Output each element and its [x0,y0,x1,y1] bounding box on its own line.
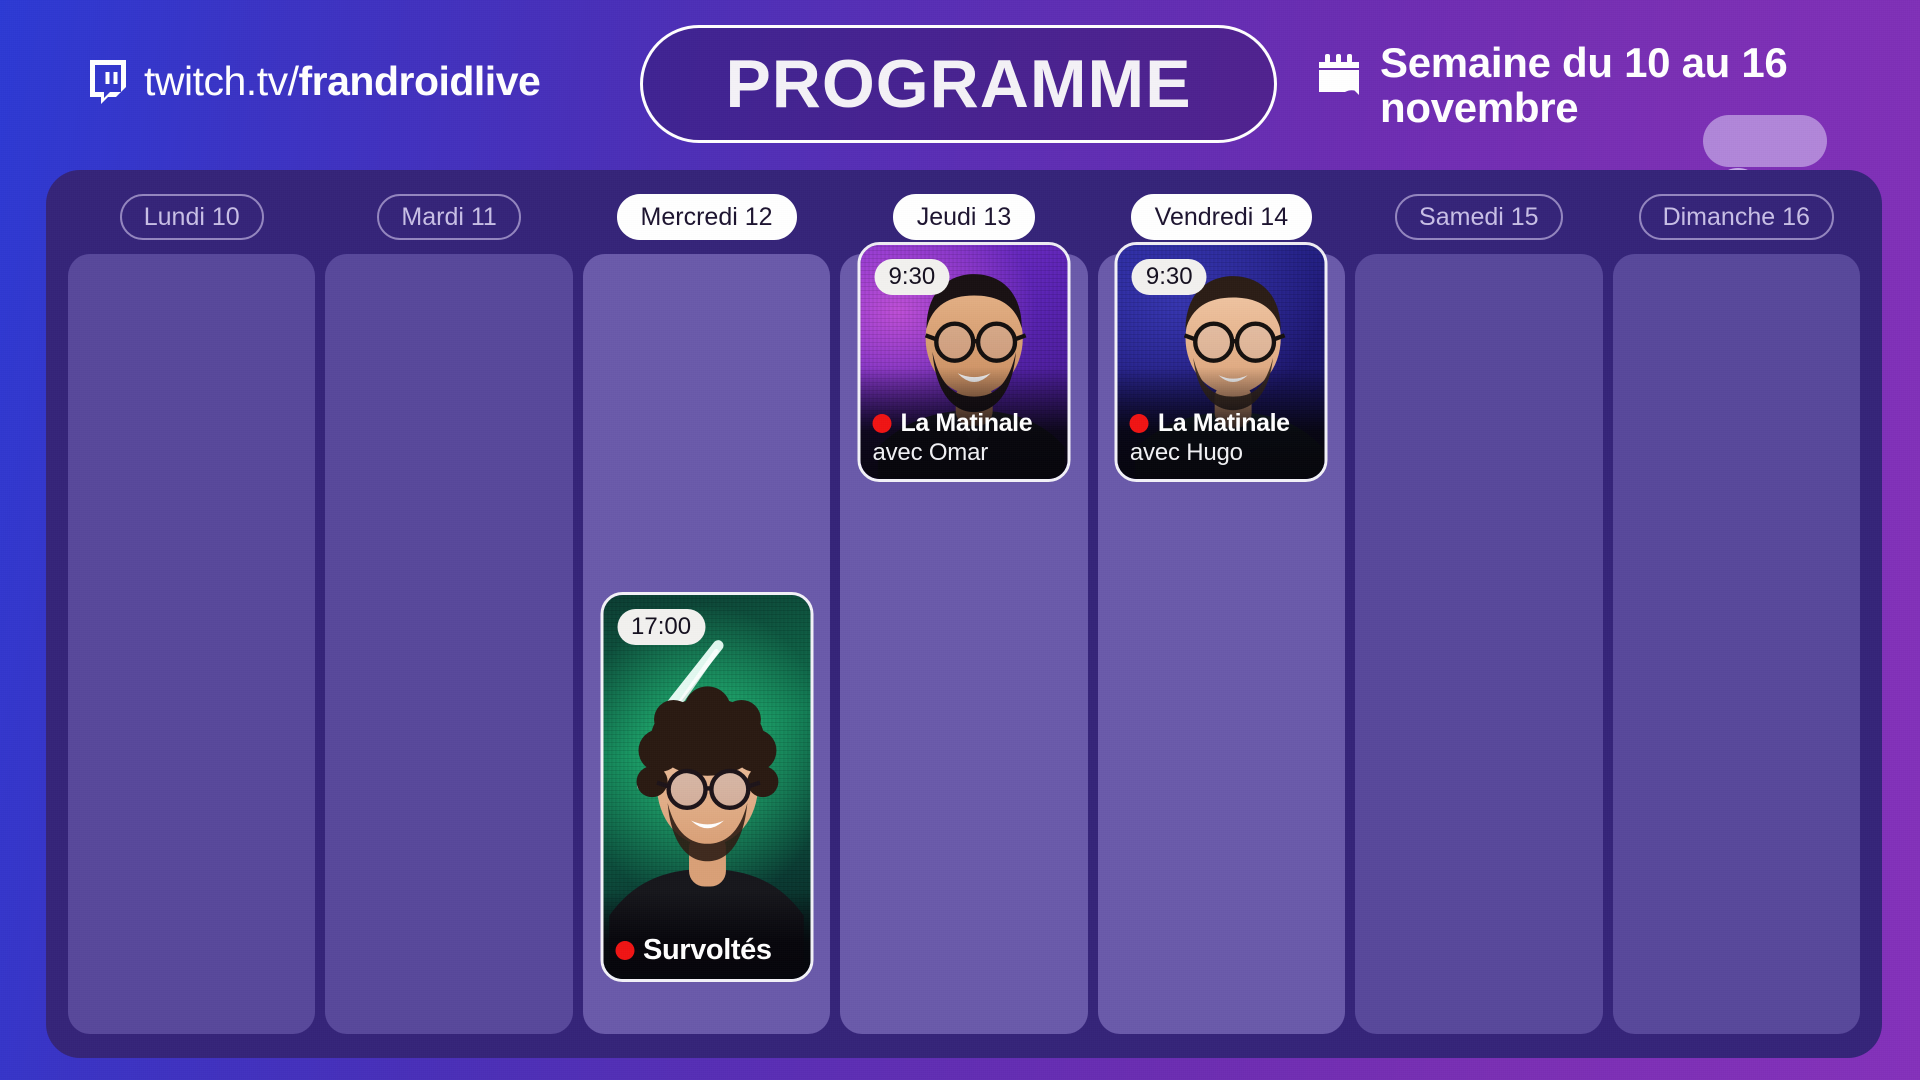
day-column-mardi: Mardi 11 [325,194,572,1034]
show-title-row: La Matinale [1130,409,1313,438]
week-grid: Lundi 10 Mardi 11 Mercredi 12 [46,170,1882,1058]
day-slot-samedi [1355,254,1602,1034]
day-slot-vendredi: 9:30 La Matinale avec Hugo [1098,254,1345,1034]
page-title: PROGRAMME [725,45,1191,123]
show-title: La Matinale [1158,409,1290,438]
show-subtitle: avec Omar [872,439,1055,467]
day-slot-jeudi: 9:30 La Matinale avec Omar [840,254,1087,1034]
day-label: Vendredi 14 [1155,203,1288,232]
show-title: La Matinale [900,409,1032,438]
show-card-matinale-omar[interactable]: 9:30 La Matinale avec Omar [857,242,1070,482]
day-slot-lundi [68,254,315,1034]
channel-brand[interactable]: twitch.tv/frandroidlive [86,58,540,105]
live-dot-icon [872,414,891,433]
day-label: Samedi 15 [1419,203,1539,232]
show-time-survoltes: 17:00 [617,609,705,645]
programme-title-pill: PROGRAMME [640,25,1277,143]
header: twitch.tv/frandroidlive PROGRAMME Semain… [0,0,1920,170]
show-title-row: Survoltés [615,934,798,967]
day-pill-lundi[interactable]: Lundi 10 [120,194,264,240]
show-footer-hugo: La Matinale avec Hugo [1118,367,1325,479]
day-column-dimanche: Dimanche 16 [1613,194,1860,1034]
channel-url-name: frandroidlive [298,58,540,104]
day-pill-mercredi[interactable]: Mercredi 12 [617,194,797,240]
day-column-lundi: Lundi 10 [68,194,315,1034]
show-time-omar: 9:30 [874,259,949,295]
day-slot-mercredi: 17:00 Survoltés [583,254,830,1034]
week-range: Semaine du 10 au 16 novembre [1316,40,1876,131]
day-label: Jeudi 13 [917,203,1012,232]
day-pill-samedi[interactable]: Samedi 15 [1395,194,1563,240]
day-pill-mardi[interactable]: Mardi 11 [377,194,520,240]
programme-poster: twitch.tv/frandroidlive PROGRAMME Semain… [0,0,1920,1080]
show-card-matinale-hugo[interactable]: 9:30 La Matinale avec Hugo [1115,242,1328,482]
day-pill-jeudi[interactable]: Jeudi 13 [893,194,1036,240]
channel-url: twitch.tv/frandroidlive [144,58,540,105]
show-footer-omar: La Matinale avec Omar [860,367,1067,479]
channel-url-prefix: twitch.tv/ [144,58,298,104]
live-dot-icon [1130,414,1149,433]
day-label: Mercredi 12 [641,203,773,232]
live-dot-icon [615,941,634,960]
day-column-samedi: Samedi 15 [1355,194,1602,1034]
day-label: Dimanche 16 [1663,203,1810,232]
day-slot-dimanche [1613,254,1860,1034]
week-label: Semaine du 10 au 16 novembre [1380,40,1876,131]
day-pill-vendredi[interactable]: Vendredi 14 [1131,194,1312,240]
show-time-hugo: 9:30 [1132,259,1207,295]
show-footer-survoltes: Survoltés [603,892,810,979]
week-panel: Lundi 10 Mardi 11 Mercredi 12 [46,170,1882,1058]
day-slot-mardi [325,254,572,1034]
calendar-icon [1316,54,1362,103]
day-label: Lundi 10 [144,203,240,232]
show-subtitle: avec Hugo [1130,439,1313,467]
show-title-row: La Matinale [872,409,1055,438]
day-pill-dimanche[interactable]: Dimanche 16 [1639,194,1834,240]
show-card-survoltes[interactable]: 17:00 Survoltés [600,592,813,982]
show-title: Survoltés [643,934,772,967]
twitch-icon [86,60,126,104]
day-column-vendredi: Vendredi 14 [1098,194,1345,1034]
day-column-jeudi: Jeudi 13 [840,194,1087,1034]
day-column-mercredi: Mercredi 12 [583,194,830,1034]
day-label: Mardi 11 [401,203,496,232]
